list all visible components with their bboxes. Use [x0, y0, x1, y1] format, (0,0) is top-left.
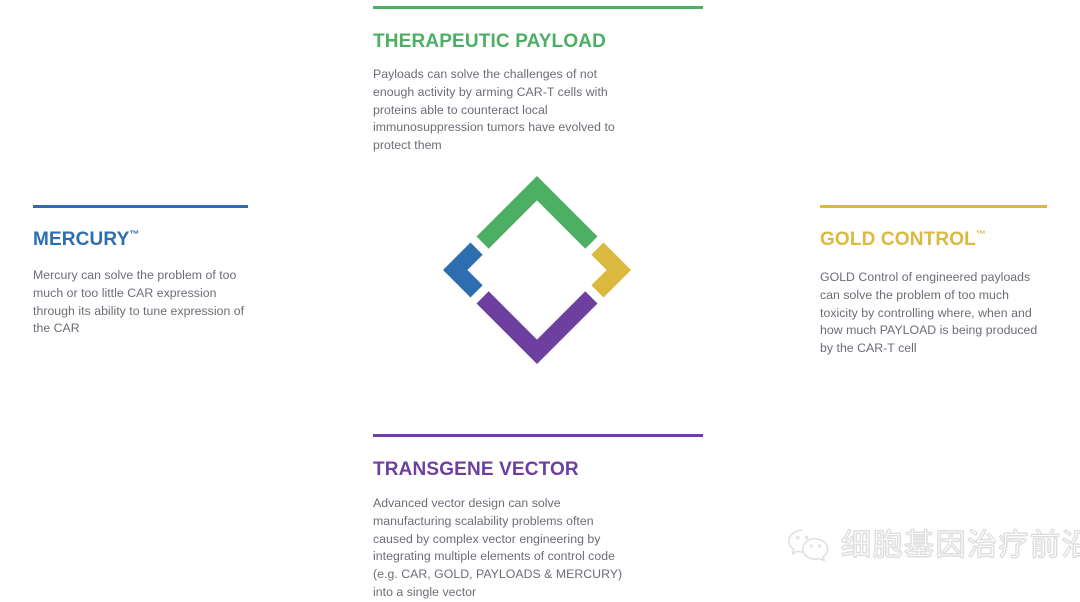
panel-title-text: GOLD CONTROL: [820, 229, 976, 250]
wechat-watermark-text: 细胞基因治疗前沿: [841, 529, 1080, 563]
panel-body-mercury: Mercury can solve the problem of too muc…: [33, 267, 255, 338]
panel-rule-gold-control: [820, 205, 1047, 208]
panel-title-text: MERCURY: [33, 229, 129, 250]
panel-body-transgene-vector: Advanced vector design can solve manufac…: [373, 495, 635, 602]
diamond-segment-bottom: [477, 291, 598, 364]
panel-transgene-vector: TRANSGENE VECTOR Advanced vector design …: [373, 434, 703, 602]
diamond-segment-left: [443, 243, 483, 298]
panel-rule-mercury: [33, 205, 248, 208]
diamond-segment-top: [477, 176, 598, 249]
panel-gold-control: GOLD CONTROL™ GOLD Control of engineered…: [820, 205, 1047, 358]
wechat-icon: [786, 527, 832, 566]
panel-body-gold-control: GOLD Control of engineered payloads can …: [820, 269, 1038, 358]
diamond-diagram: [437, 170, 637, 370]
diamond-segment-right: [591, 243, 631, 298]
slide-canvas: THERAPEUTIC PAYLOAD Payloads can solve t…: [0, 0, 1080, 593]
panel-title-transgene-vector: TRANSGENE VECTOR: [373, 458, 703, 482]
panel-rule-transgene-vector: [373, 434, 703, 437]
panel-rule-therapeutic-payload: [373, 6, 703, 9]
panel-mercury: MERCURY™ Mercury can solve the problem o…: [33, 205, 248, 338]
panel-title-therapeutic-payload: THERAPEUTIC PAYLOAD: [373, 30, 703, 54]
panel-title-mercury: MERCURY™: [33, 228, 248, 252]
wechat-watermark: 细胞基因治疗前沿: [786, 524, 1080, 568]
panel-title-text: THERAPEUTIC PAYLOAD: [373, 31, 606, 52]
panel-title-gold-control: GOLD CONTROL™: [820, 228, 1047, 252]
panel-body-therapeutic-payload: Payloads can solve the challenges of not…: [373, 66, 635, 155]
trademark-symbol: ™: [129, 230, 139, 241]
panel-title-text: TRANSGENE VECTOR: [373, 459, 579, 480]
trademark-symbol: ™: [976, 230, 986, 241]
panel-therapeutic-payload: THERAPEUTIC PAYLOAD Payloads can solve t…: [373, 6, 703, 155]
